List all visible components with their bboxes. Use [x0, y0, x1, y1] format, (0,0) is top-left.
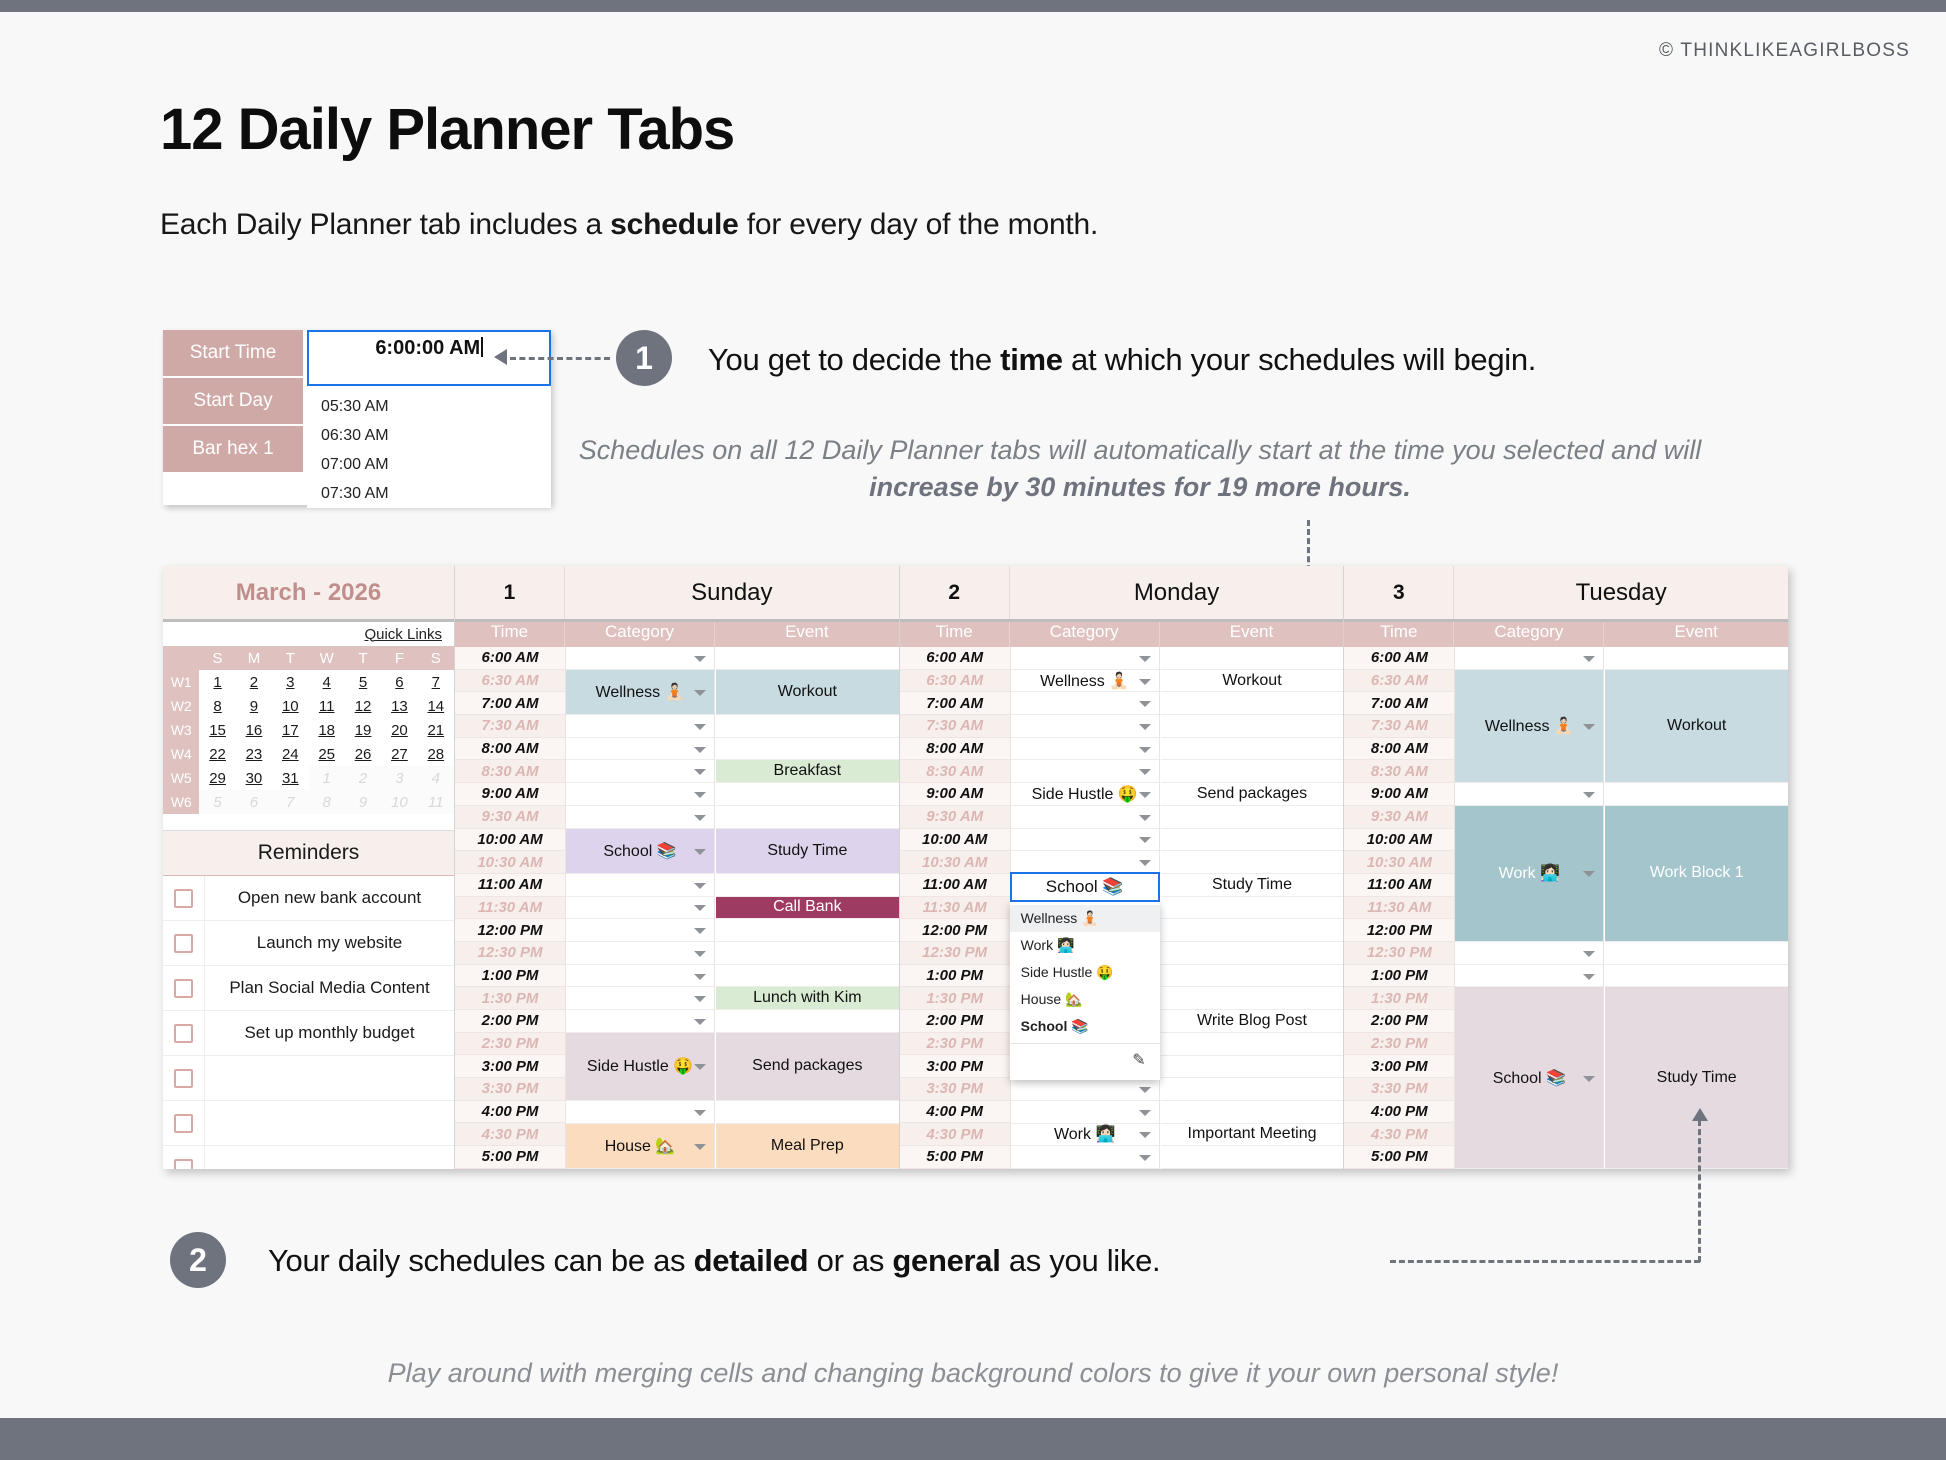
time-cell: 7:00 AM	[455, 692, 565, 715]
page-title: 12 Daily Planner Tabs	[160, 96, 734, 163]
event-cell-empty[interactable]	[1161, 806, 1344, 829]
time-column: 6:00 AM6:30 AM7:00 AM7:30 AM8:00 AM8:30 …	[455, 647, 565, 1169]
time-cell: 3:30 PM	[455, 1078, 565, 1101]
event-cell[interactable]: Workout	[716, 670, 899, 715]
event-cell-empty[interactable]	[716, 942, 899, 965]
event-cell-empty[interactable]	[1161, 829, 1344, 852]
callout-2-emphasis-1: detailed	[694, 1243, 809, 1278]
calendar-day-cell[interactable]: 27	[381, 742, 417, 766]
event-cell-empty[interactable]	[716, 647, 899, 670]
event-cell[interactable]: Send packages	[716, 1033, 899, 1101]
callout-2-part-e: as you like.	[1001, 1243, 1161, 1278]
category-cell-empty[interactable]	[1011, 829, 1159, 852]
chevron-down-icon[interactable]	[1139, 769, 1151, 775]
category-label: Wellness 🧘🏻	[1485, 716, 1574, 736]
callout-1-part-c: at which your schedules will begin.	[1063, 342, 1536, 377]
calendar-day-cell[interactable]: 9	[236, 694, 272, 718]
dropdown-option[interactable]: School 📚	[1010, 1013, 1160, 1040]
reminder-checkbox-cell[interactable]	[163, 1056, 205, 1100]
chevron-down-icon[interactable]	[1139, 1087, 1151, 1093]
chevron-down-icon[interactable]	[694, 1064, 706, 1070]
category-cell-empty[interactable]	[1455, 942, 1603, 965]
event-cell-empty[interactable]	[716, 874, 899, 897]
event-cell[interactable]: Write Blog Post	[1161, 1010, 1344, 1033]
dropdown-option[interactable]: Side Hustle 🤑	[1010, 959, 1160, 986]
category-cell-empty[interactable]	[1011, 1078, 1159, 1101]
event-label: Meal Prep	[771, 1137, 844, 1155]
category-cell[interactable]: Wellness 🧘🏻	[1011, 670, 1159, 693]
chevron-down-icon[interactable]	[694, 883, 706, 889]
checkbox-icon[interactable]	[174, 979, 193, 998]
calendar-day-cell[interactable]: 2	[236, 670, 272, 694]
event-label: Send packages	[752, 1057, 862, 1075]
callout-2-emphasis-2: general	[892, 1243, 1000, 1278]
category-cell-empty[interactable]	[566, 715, 714, 738]
week-label: W4	[163, 742, 199, 766]
label-start-day: Start Day	[163, 378, 303, 426]
event-cell[interactable]: Send packages	[1161, 783, 1344, 806]
category-cell[interactable]: School 📚	[566, 829, 714, 874]
event-cell-empty[interactable]	[1161, 1056, 1344, 1079]
calendar-spacer	[163, 814, 454, 830]
event-cell-empty[interactable]	[716, 715, 899, 738]
schedule-grid: 6:00 AM6:30 AM7:00 AM7:30 AM8:00 AM8:30 …	[455, 647, 899, 1169]
category-label: School 📚	[603, 841, 676, 861]
calendar-day-cell[interactable]: 13	[381, 694, 417, 718]
event-cell[interactable]: Important Meeting	[1161, 1124, 1344, 1147]
time-cell: 11:30 AM	[455, 897, 565, 920]
calendar-day-cell[interactable]: 2	[345, 766, 381, 790]
copyright-notice: © THINKLIKEAGIRLBOSS	[1659, 40, 1910, 62]
category-cell-empty[interactable]	[1011, 738, 1159, 761]
chevron-down-icon[interactable]	[1583, 951, 1595, 957]
dropdown-option[interactable]: House 🏡	[1010, 986, 1160, 1013]
calendar-day-cell[interactable]: 20	[381, 718, 417, 742]
chevron-down-icon[interactable]	[694, 815, 706, 821]
mini-calendar[interactable]: S M T W T F S W11234567W2891011121314W31…	[163, 646, 454, 814]
time-cell: 8:00 AM	[900, 738, 1010, 761]
category-cell[interactable]: Work 👩🏻‍💻	[1455, 806, 1603, 942]
time-cell: 3:00 PM	[455, 1055, 565, 1078]
event-cell-empty[interactable]	[716, 738, 899, 761]
event-cell-empty[interactable]	[1161, 965, 1344, 988]
calendar-day-cell[interactable]: 19	[345, 718, 381, 742]
category-cell-empty[interactable]	[1011, 806, 1159, 829]
category-dropdown-menu[interactable]: Wellness 🧘🏻Work 👩🏻‍💻Side Hustle 🤑House 🏡…	[1010, 902, 1160, 1080]
weekday-initial: S	[199, 646, 235, 670]
category-cell-empty[interactable]	[566, 942, 714, 965]
time-cell: 9:00 AM	[1344, 783, 1454, 806]
chevron-down-icon[interactable]	[1583, 974, 1595, 980]
chevron-down-icon[interactable]	[1139, 837, 1151, 843]
chevron-down-icon[interactable]	[1583, 1076, 1595, 1082]
reminder-row[interactable]	[163, 1101, 454, 1146]
calendar-day-cell[interactable]: 9	[345, 790, 381, 814]
event-cell-empty[interactable]	[1605, 965, 1788, 988]
weekday-initial: T	[345, 646, 381, 670]
label-bar-hex-1: Bar hex 1	[163, 426, 303, 474]
chevron-down-icon[interactable]	[1139, 792, 1151, 798]
reminder-row[interactable]	[163, 1056, 454, 1101]
event-cell-empty[interactable]	[1161, 647, 1344, 670]
chevron-down-icon[interactable]	[1139, 1110, 1151, 1116]
category-cell-empty[interactable]	[1011, 1146, 1159, 1169]
reminder-checkbox-cell[interactable]	[163, 1146, 205, 1169]
calendar-day-cell[interactable]: 6	[236, 790, 272, 814]
category-cell[interactable]: Side Hustle 🤑	[1011, 783, 1159, 806]
checkbox-icon[interactable]	[174, 934, 193, 953]
category-cell-empty[interactable]	[566, 647, 714, 670]
calendar-day-cell[interactable]: 8	[309, 790, 345, 814]
chevron-down-icon[interactable]	[1583, 724, 1595, 730]
event-label: Workout	[1667, 717, 1726, 735]
chevron-down-icon[interactable]	[694, 996, 706, 1002]
reminders-list: Open new bank accountLaunch my websitePl…	[163, 876, 454, 1169]
weekday-initial: S	[418, 646, 454, 670]
category-label: Work 👩🏻‍💻	[1054, 1124, 1115, 1144]
time-option[interactable]: 07:00 AM	[307, 450, 551, 479]
event-cell-empty[interactable]	[716, 965, 899, 988]
category-cell-empty[interactable]	[1011, 1101, 1159, 1124]
start-time-widget[interactable]: Start Time Start Day Bar hex 1 6:00:00 A…	[163, 330, 551, 505]
category-cell-empty[interactable]	[1011, 760, 1159, 783]
reminder-label: Plan Social Media Content	[205, 966, 454, 1010]
calendar-day-cell[interactable]: 15	[199, 718, 235, 742]
reminder-row[interactable]: Open new bank account	[163, 876, 454, 921]
calendar-day-cell[interactable]: 1	[309, 766, 345, 790]
category-label: School 📚	[1493, 1068, 1566, 1088]
day-name: Sunday	[565, 566, 899, 619]
event-label: Workout	[778, 683, 837, 701]
header-category: Category	[1010, 622, 1160, 647]
calendar-day-cell[interactable]: 22	[199, 742, 235, 766]
category-cell[interactable]: Side Hustle 🤑	[566, 1033, 714, 1101]
calendar-day-cell[interactable]: 3	[381, 766, 417, 790]
event-cell-empty[interactable]	[716, 806, 899, 829]
time-cell: 11:00 AM	[455, 874, 565, 897]
category-cell-empty[interactable]	[1455, 965, 1603, 988]
category-column: Wellness 🧘🏻School 📚Side Hustle 🤑House 🏡	[565, 647, 715, 1169]
time-cell: 11:30 AM	[1344, 897, 1454, 920]
category-cell-empty[interactable]	[566, 874, 714, 897]
calendar-day-cell[interactable]: 7	[272, 790, 308, 814]
event-cell-empty[interactable]	[1161, 851, 1344, 874]
calendar-day-cell[interactable]: 30	[236, 766, 272, 790]
reminder-checkbox-cell[interactable]	[163, 1101, 205, 1145]
calendar-day-cell[interactable]: 6	[381, 670, 417, 694]
event-cell-empty[interactable]	[1161, 715, 1344, 738]
time-cell: 8:00 AM	[455, 738, 565, 761]
chevron-down-icon[interactable]	[694, 792, 706, 798]
event-cell[interactable]: Work Block 1	[1605, 806, 1788, 942]
calendar-week-row: W2891011121314	[163, 694, 454, 718]
event-cell-empty[interactable]	[1605, 942, 1788, 965]
reminder-row[interactable]	[163, 1146, 454, 1169]
chevron-down-icon[interactable]	[694, 905, 706, 911]
chevron-down-icon[interactable]	[694, 769, 706, 775]
checkbox-icon[interactable]	[174, 889, 193, 908]
weekday-initial: W	[309, 646, 345, 670]
event-cell-empty[interactable]	[1161, 692, 1344, 715]
calendar-corner	[163, 646, 199, 670]
chevron-down-icon[interactable]	[1583, 871, 1595, 877]
category-cell-empty[interactable]	[566, 760, 714, 783]
chevron-down-icon[interactable]	[1139, 724, 1151, 730]
subtitle-emphasis: schedule	[610, 208, 738, 241]
time-column: 6:00 AM6:30 AM7:00 AM7:30 AM8:00 AM8:30 …	[900, 647, 1010, 1169]
category-dropdown-selected[interactable]: School 📚	[1010, 872, 1160, 902]
calendar-day-cell[interactable]: 11	[418, 790, 454, 814]
category-cell-empty[interactable]	[566, 965, 714, 988]
calendar-day-cell[interactable]: 5	[199, 790, 235, 814]
event-cell-empty[interactable]	[1161, 1033, 1344, 1056]
time-cell: 7:30 AM	[1344, 715, 1454, 738]
week-label: W1	[163, 670, 199, 694]
event-cell-empty[interactable]	[716, 919, 899, 942]
calendar-day-cell[interactable]: 29	[199, 766, 235, 790]
category-cell[interactable]: Wellness 🧘🏻	[1455, 670, 1603, 783]
day-name: Tuesday	[1454, 566, 1788, 619]
reminders-title: Reminders	[163, 830, 454, 876]
calendar-day-cell[interactable]: 5	[345, 670, 381, 694]
category-cell-empty[interactable]	[566, 1101, 714, 1124]
time-cell: 4:00 PM	[455, 1101, 565, 1124]
calendar-week-row: W52930311234	[163, 766, 454, 790]
calendar-week-row: W422232425262728	[163, 742, 454, 766]
category-cell-empty[interactable]	[1455, 647, 1603, 670]
chevron-down-icon[interactable]	[694, 690, 706, 696]
chevron-down-icon[interactable]	[694, 1144, 706, 1150]
calendar-day-cell[interactable]: 10	[381, 790, 417, 814]
event-column: WorkoutBreakfastStudy TimeCall BankLunch…	[716, 647, 899, 1169]
chevron-down-icon[interactable]	[1583, 656, 1595, 662]
label-start-time: Start Time	[163, 330, 303, 378]
spreadsheet-window[interactable]: March - 2026 Quick Links S M T W T F S W…	[163, 566, 1788, 1169]
reminder-checkbox-cell[interactable]	[163, 966, 205, 1010]
day-number: 3	[1344, 566, 1454, 619]
calendar-day-cell[interactable]: 25	[309, 742, 345, 766]
dropdown-edit-row[interactable]: ✎	[1010, 1043, 1160, 1077]
calendar-day-cell[interactable]: 28	[418, 742, 454, 766]
category-cell[interactable]: House 🏡	[566, 1124, 714, 1169]
event-cell-empty[interactable]	[1161, 1101, 1344, 1124]
time-cell: 6:30 AM	[455, 670, 565, 693]
chevron-down-icon[interactable]	[1139, 701, 1151, 707]
start-time-options-list[interactable]: 05:30 AM 06:30 AM 07:00 AM 07:30 AM	[307, 388, 551, 508]
time-cell: 5:00 PM	[1344, 1146, 1454, 1169]
chevron-down-icon[interactable]	[694, 656, 706, 662]
event-cell-empty[interactable]	[1161, 897, 1344, 920]
time-cell: 11:30 AM	[900, 897, 1010, 920]
time-cell: 1:30 PM	[1344, 987, 1454, 1010]
calendar-day-cell[interactable]: 8	[199, 694, 235, 718]
time-cell: 3:00 PM	[1344, 1055, 1454, 1078]
time-cell: 10:30 AM	[455, 851, 565, 874]
category-label: Side Hustle 🤑	[587, 1056, 693, 1076]
event-cell-empty[interactable]	[716, 783, 899, 806]
calendar-day-cell[interactable]: 4	[309, 670, 345, 694]
subtitle-part-c: for every day of the month.	[739, 208, 1099, 241]
callout-badge-2: 2	[170, 1232, 226, 1288]
reminder-row[interactable]: Plan Social Media Content	[163, 966, 454, 1011]
time-cell: 6:00 AM	[455, 647, 565, 670]
time-option[interactable]: 05:30 AM	[307, 392, 551, 421]
time-cell: 10:30 AM	[1344, 851, 1454, 874]
header-category: Category	[1454, 622, 1604, 647]
category-label: Wellness 🧘🏻	[596, 682, 685, 702]
event-cell-empty[interactable]	[1605, 783, 1788, 806]
calendar-body: W11234567W2891011121314W315161718192021W…	[163, 670, 454, 814]
category-cell-empty[interactable]	[566, 1010, 714, 1033]
category-cell-empty[interactable]	[1455, 783, 1603, 806]
category-cell-empty[interactable]	[1011, 647, 1159, 670]
chevron-down-icon[interactable]	[694, 1110, 706, 1116]
event-cell-empty[interactable]	[716, 1101, 899, 1124]
header-event: Event	[1604, 622, 1788, 647]
calendar-day-cell[interactable]: 4	[418, 766, 454, 790]
chevron-down-icon[interactable]	[1583, 792, 1595, 798]
chevron-down-icon[interactable]	[1139, 679, 1151, 685]
chevron-down-icon[interactable]	[1139, 815, 1151, 821]
chevron-down-icon[interactable]	[694, 1019, 706, 1025]
category-cell[interactable]: Wellness 🧘🏻	[566, 670, 714, 715]
event-cell-empty[interactable]	[1161, 738, 1344, 761]
time-cell: 2:00 PM	[900, 1010, 1010, 1033]
event-cell-empty[interactable]	[1161, 987, 1344, 1010]
event-cell[interactable]: Breakfast	[716, 760, 899, 783]
quick-links-link[interactable]: Quick Links	[364, 626, 442, 643]
event-cell[interactable]: Study Time	[716, 829, 899, 874]
time-option[interactable]: 06:30 AM	[307, 421, 551, 450]
category-cell-empty[interactable]	[566, 987, 714, 1010]
reminder-row[interactable]: Launch my website	[163, 921, 454, 966]
calendar-header-row: S M T W T F S	[163, 646, 454, 670]
category-cell-empty[interactable]	[566, 783, 714, 806]
calendar-day-cell[interactable]: 3	[272, 670, 308, 694]
time-cell: 5:00 PM	[900, 1146, 1010, 1169]
category-label: Side Hustle 🤑	[1032, 784, 1138, 804]
calendar-day-cell[interactable]: 31	[272, 766, 308, 790]
event-cell-empty[interactable]	[1161, 1146, 1344, 1169]
event-cell-empty[interactable]	[1605, 647, 1788, 670]
chevron-down-icon[interactable]	[694, 724, 706, 730]
chevron-down-icon[interactable]	[694, 951, 706, 957]
calendar-day-cell[interactable]: 24	[272, 742, 308, 766]
calendar-day-cell[interactable]: 12	[345, 694, 381, 718]
time-cell: 7:00 AM	[1344, 692, 1454, 715]
calendar-day-cell[interactable]: 14	[418, 694, 454, 718]
callout-2-part-c: or as	[808, 1243, 892, 1278]
category-cell-empty[interactable]	[566, 738, 714, 761]
week-label: W3	[163, 718, 199, 742]
chevron-down-icon[interactable]	[694, 928, 706, 934]
time-cell: 6:30 AM	[900, 670, 1010, 693]
calendar-day-cell[interactable]: 26	[345, 742, 381, 766]
time-cell: 7:30 AM	[455, 715, 565, 738]
chevron-down-icon[interactable]	[1139, 747, 1151, 753]
event-cell-empty[interactable]	[1161, 942, 1344, 965]
calendar-day-cell[interactable]: 1	[199, 670, 235, 694]
event-cell[interactable]: Workout	[1605, 670, 1788, 783]
event-cell[interactable]: Study Time	[1161, 874, 1344, 897]
event-cell[interactable]: Study Time	[1605, 987, 1788, 1169]
calendar-day-cell[interactable]: 17	[272, 718, 308, 742]
calendar-day-cell[interactable]: 7	[418, 670, 454, 694]
event-cell-empty[interactable]	[1161, 1078, 1344, 1101]
calendar-day-cell[interactable]: 16	[236, 718, 272, 742]
time-column: 6:00 AM6:30 AM7:00 AM7:30 AM8:00 AM8:30 …	[1344, 647, 1454, 1169]
header-event: Event	[715, 622, 899, 647]
event-cell-empty[interactable]	[1161, 919, 1344, 942]
calendar-day-cell[interactable]: 10	[272, 694, 308, 718]
time-cell: 2:30 PM	[455, 1033, 565, 1056]
time-cell: 2:00 PM	[455, 1010, 565, 1033]
reminder-row[interactable]: Set up monthly budget	[163, 1011, 454, 1056]
time-cell: 1:30 PM	[900, 987, 1010, 1010]
event-cell[interactable]: Call Bank	[716, 897, 899, 920]
header-time: Time	[900, 622, 1010, 647]
event-cell-empty[interactable]	[1161, 760, 1344, 783]
reminder-checkbox-cell[interactable]	[163, 921, 205, 965]
time-cell: 8:00 AM	[1344, 738, 1454, 761]
chevron-down-icon[interactable]	[694, 747, 706, 753]
pencil-icon[interactable]: ✎	[1132, 1050, 1145, 1070]
checkbox-icon[interactable]	[174, 1114, 193, 1133]
dropdown-option[interactable]: Wellness 🧘🏻	[1010, 905, 1160, 932]
checkbox-icon[interactable]	[174, 1159, 193, 1170]
time-cell: 5:00 PM	[455, 1146, 565, 1169]
header-event: Event	[1160, 622, 1344, 647]
chevron-down-icon[interactable]	[1139, 656, 1151, 662]
checkbox-icon[interactable]	[174, 1069, 193, 1088]
chevron-down-icon[interactable]	[1139, 1132, 1151, 1138]
callout-1-emphasis: time	[1000, 342, 1063, 377]
calendar-day-cell[interactable]: 18	[309, 718, 345, 742]
time-option[interactable]: 07:30 AM	[307, 479, 551, 508]
time-cell: 3:30 PM	[1344, 1078, 1454, 1101]
reminder-checkbox-cell[interactable]	[163, 876, 205, 920]
calendar-day-cell[interactable]: 21	[418, 718, 454, 742]
checkbox-icon[interactable]	[174, 1024, 193, 1043]
event-cell[interactable]: Meal Prep	[716, 1124, 899, 1169]
start-time-value: 6:00:00 AM	[375, 337, 480, 360]
chevron-down-icon[interactable]	[694, 974, 706, 980]
category-cell-empty[interactable]	[566, 897, 714, 920]
category-cell-empty[interactable]	[566, 919, 714, 942]
chevron-down-icon[interactable]	[1139, 860, 1151, 866]
category-cell-empty[interactable]	[1011, 715, 1159, 738]
day-columns-container: 1SundayTimeCategoryEvent6:00 AM6:30 AM7:…	[455, 566, 1788, 1169]
dropdown-option[interactable]: Work 👩🏻‍💻	[1010, 932, 1160, 959]
category-cell[interactable]: School 📚	[1455, 987, 1603, 1169]
event-cell-empty[interactable]	[716, 1010, 899, 1033]
note-emphasis: increase by 30 minutes for 19 more hours…	[869, 472, 1411, 502]
time-cell: 4:00 PM	[1344, 1101, 1454, 1124]
calendar-day-cell[interactable]: 11	[309, 694, 345, 718]
category-cell-empty[interactable]	[566, 806, 714, 829]
category-cell[interactable]: Work 👩🏻‍💻	[1011, 1124, 1159, 1147]
reminder-checkbox-cell[interactable]	[163, 1011, 205, 1055]
quick-links-row[interactable]: Quick Links	[163, 622, 454, 646]
chevron-down-icon[interactable]	[1139, 1155, 1151, 1161]
category-cell-empty[interactable]	[1011, 692, 1159, 715]
event-cell[interactable]: Lunch with Kim	[716, 987, 899, 1010]
calendar-week-row: W6567891011	[163, 790, 454, 814]
calendar-day-cell[interactable]: 23	[236, 742, 272, 766]
chevron-down-icon[interactable]	[694, 849, 706, 855]
event-cell[interactable]: Workout	[1161, 670, 1344, 693]
category-cell-empty[interactable]	[1011, 851, 1159, 874]
